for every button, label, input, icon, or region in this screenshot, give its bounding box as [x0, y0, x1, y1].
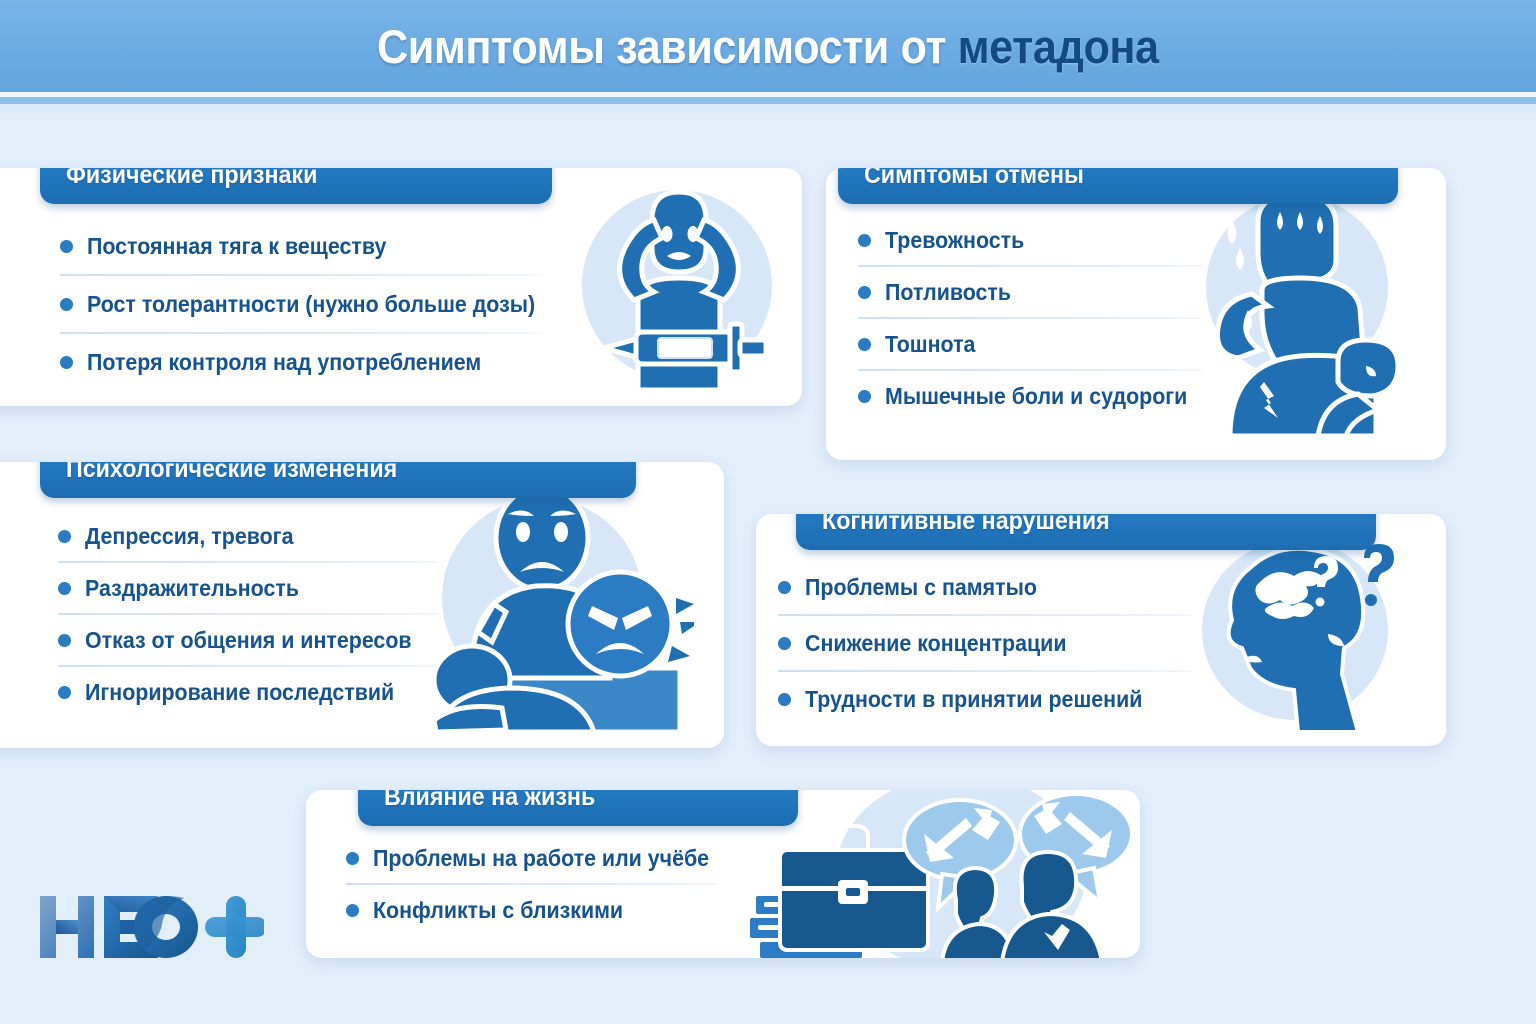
card-life-impact: Влияние на жизнь Проблемы на работе или … [306, 790, 1140, 958]
sweating-person-with-cramps-icon [1188, 186, 1420, 436]
list-item[interactable]: Конфликты с близкими [346, 892, 746, 928]
card-life-impact-header: Влияние на жизнь [358, 790, 798, 826]
logo-plus-icon [205, 896, 264, 958]
list-item[interactable]: Потеря контроля над употреблением [60, 342, 558, 382]
bullet-icon [858, 338, 871, 351]
bullet-icon [60, 356, 73, 369]
bullet-icon [778, 637, 791, 650]
list-separator [778, 670, 1192, 672]
card-cognitive-list: Проблемы с памятыо Снижение концентрации… [778, 568, 1208, 718]
list-separator [858, 369, 1202, 371]
list-item[interactable]: Снижение концентрации [778, 624, 1208, 662]
list-item-label: Проблемы на работе или учёбе [373, 845, 709, 872]
list-item[interactable]: Депрессия, тревога [58, 518, 458, 554]
logo-letter-n [40, 896, 94, 958]
head-with-brain-question-marks-icon [1206, 536, 1406, 732]
bullet-icon [58, 530, 71, 543]
card-physical-list: Постоянная тяга к веществу Рост толерант… [60, 226, 558, 382]
list-item-label: Конфликты с близкими [373, 897, 623, 924]
list-item-label: Снижение концентрации [805, 630, 1066, 657]
card-cognitive-header: Когнитивные нарушения [796, 514, 1376, 550]
card-withdrawal-list: Тревожность Потливость Тошнота Мышечные … [858, 222, 1218, 414]
list-item[interactable]: Тошнота [858, 326, 1218, 362]
card-physical-title: Физические признаки [66, 168, 317, 190]
list-separator [60, 274, 540, 276]
page-title-accent: метадона [958, 20, 1159, 73]
neo-plus-logo[interactable] [34, 888, 264, 964]
list-separator [778, 614, 1192, 616]
bullet-icon [58, 634, 71, 647]
stressed-person-with-syringe-icon [574, 180, 784, 390]
list-item-label: Депрессия, тревога [85, 523, 293, 550]
list-item[interactable]: Проблемы с памятыо [778, 568, 1208, 606]
list-item-label: Игнорирование последствий [85, 679, 394, 706]
bullet-icon [778, 693, 791, 706]
header-divider-light [0, 104, 1536, 113]
list-item-label: Отказ от общения и интересов [85, 627, 412, 654]
list-item-label: Мышечные боли и судороги [885, 383, 1187, 410]
list-item[interactable]: Мышечные боли и судороги [858, 378, 1218, 414]
card-withdrawal: Симптомы отмены Тревожность Потливость Т… [826, 168, 1446, 460]
list-item-label: Постоянная тяга к веществу [87, 233, 386, 260]
list-item[interactable]: Раздражительность [58, 570, 458, 606]
page-title-plain: Симптомы зависимости от [377, 20, 958, 73]
list-item-label: Тревожность [885, 227, 1024, 254]
list-item-label: Проблемы с памятыо [805, 574, 1037, 601]
card-psychological-header: Психологические изменения [40, 462, 636, 498]
list-item-label: Раздражительность [85, 575, 299, 602]
card-psychological: Психологические изменения Депрессия, тре… [0, 462, 724, 748]
page-header-banner: Симптомы зависимости от метадона [0, 0, 1536, 92]
card-life-impact-list: Проблемы на работе или учёбе Конфликты с… [346, 840, 746, 928]
card-cognitive: Когнитивные нарушения Проблемы с памятыо… [756, 514, 1446, 746]
bullet-icon [858, 390, 871, 403]
page-title: Симптомы зависимости от метадона [377, 19, 1159, 74]
bullet-icon [346, 852, 359, 865]
list-separator [858, 265, 1202, 267]
list-item[interactable]: Тревожность [858, 222, 1218, 258]
list-item-label: Потеря контроля над употреблением [87, 349, 481, 376]
card-psychological-list: Депрессия, тревога Раздражительность Отк… [58, 518, 458, 710]
card-withdrawal-title: Симптомы отмены [864, 168, 1084, 190]
list-item[interactable]: Постоянная тяга к веществу [60, 226, 558, 266]
bullet-icon [778, 581, 791, 594]
list-separator [60, 332, 540, 334]
list-item[interactable]: Трудности в принятии решений [778, 680, 1208, 718]
bullet-icon [60, 298, 73, 311]
bullet-icon [58, 582, 71, 595]
bullet-icon [346, 904, 359, 917]
briefcase-books-conflict-people-icon [746, 790, 1140, 958]
list-item-label: Рост толерантности (нужно больше дозы) [87, 291, 535, 318]
bullet-icon [858, 286, 871, 299]
list-item[interactable]: Проблемы на работе или учёбе [346, 840, 746, 876]
bullet-icon [858, 234, 871, 247]
card-cognitive-title: Когнитивные нарушения [822, 514, 1110, 536]
card-physical-header: Физические признаки [40, 168, 552, 204]
list-separator [858, 317, 1202, 319]
list-item-label: Потливость [885, 279, 1011, 306]
bullet-icon [60, 240, 73, 253]
header-divider-blue [0, 97, 1536, 104]
list-separator [58, 561, 438, 563]
list-item[interactable]: Рост толерантности (нужно больше дозы) [60, 284, 558, 324]
list-item[interactable]: Отказ от общения и интересов [58, 622, 458, 658]
card-life-impact-title: Влияние на жизнь [384, 790, 595, 812]
list-item-label: Тошнота [885, 331, 975, 358]
card-psychological-title: Психологические изменения [66, 462, 397, 484]
list-separator [58, 613, 438, 615]
bullet-icon [58, 686, 71, 699]
logo-letter-o [133, 896, 198, 958]
list-item[interactable]: Игнорирование последствий [58, 674, 458, 710]
list-item[interactable]: Потливость [858, 274, 1218, 310]
list-item-label: Трудности в принятии решений [805, 686, 1142, 713]
card-physical: Физические признаки Постоянная тяга к ве… [0, 168, 802, 406]
list-separator [58, 665, 438, 667]
card-withdrawal-header: Симптомы отмены [838, 168, 1398, 204]
list-separator [346, 883, 718, 885]
sad-person-with-angry-face-icon [424, 482, 694, 732]
